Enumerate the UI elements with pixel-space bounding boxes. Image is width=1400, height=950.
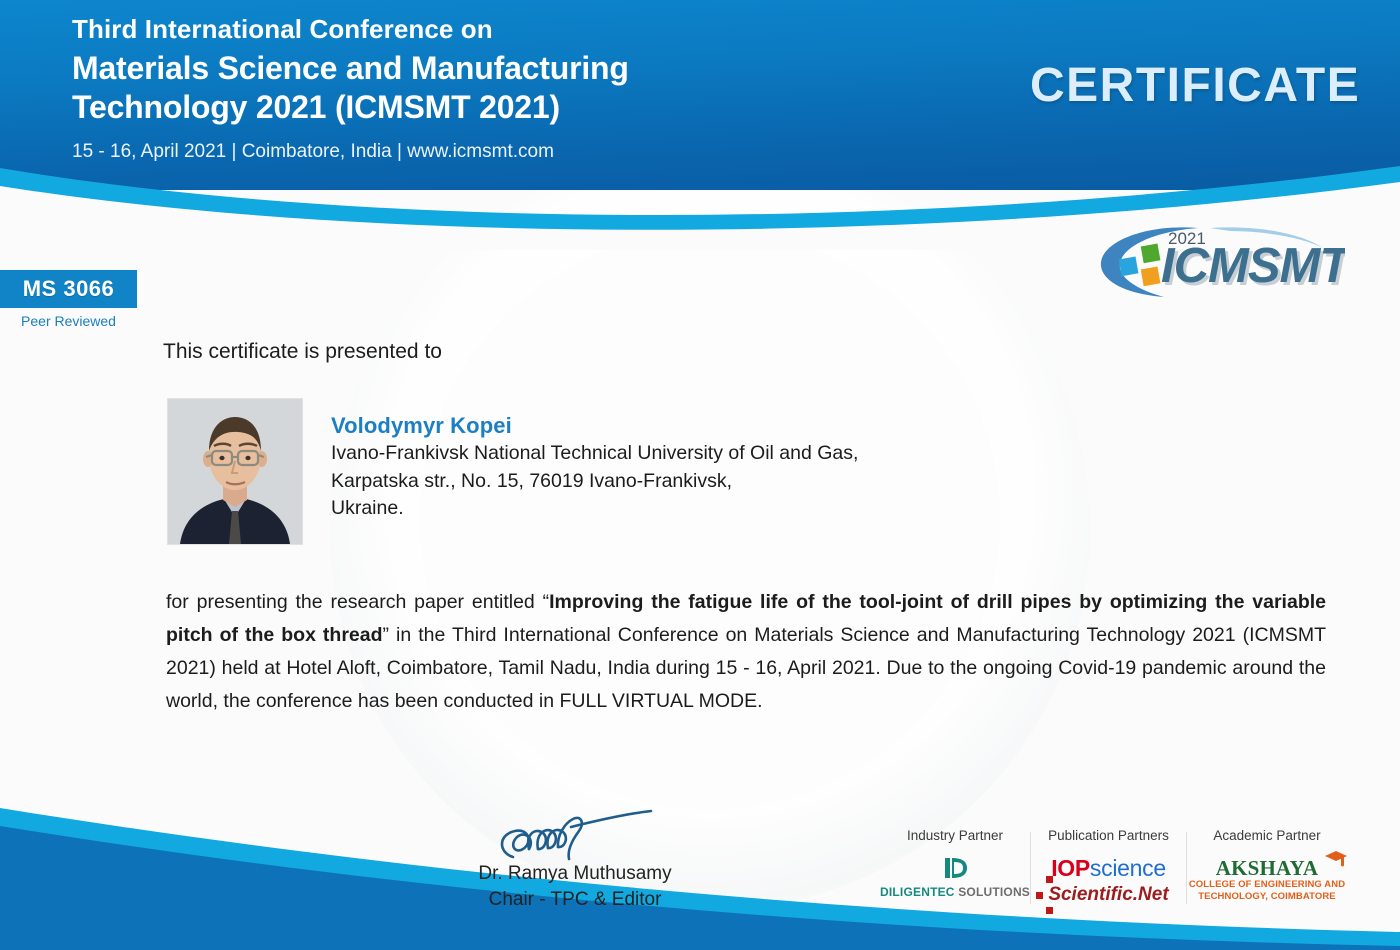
industry-partner-heading: Industry Partner	[880, 828, 1030, 843]
recipient-details: Volodymyr Kopei Ivano-Frankivsk National…	[331, 412, 1231, 523]
recipient-photo	[167, 398, 303, 545]
icmsmt-logo-wordmark: ICMSMT	[1161, 239, 1345, 293]
header-banner: Third International Conference on Materi…	[0, 0, 1400, 250]
iop-blue-text: science	[1090, 855, 1166, 881]
citation-paragraph: for presenting the research paper entitl…	[166, 586, 1326, 718]
paper-id-badge-group: MS 3066 Peer Reviewed	[0, 270, 137, 329]
conference-title-line-2: Technology 2021 (ICMSMT 2021)	[72, 88, 852, 127]
diligentec-suffix: SOLUTIONS	[955, 885, 1030, 899]
akshaya-sub-line-1: COLLEGE OF ENGINEERING AND	[1189, 879, 1345, 891]
akshaya-logo: AKSHAYA COLLEGE OF ENGINEERING AND TECHN…	[1189, 857, 1345, 903]
conference-prefix: Third International Conference on	[72, 14, 852, 44]
icmsmt-logo-svg: 2021 ICMSMT ICMSMT	[1090, 218, 1345, 304]
scinet-text: Scientific.Net	[1048, 884, 1168, 905]
icmsmt-logo: 2021 ICMSMT ICMSMT	[1090, 218, 1345, 304]
signature-mark	[475, 805, 675, 867]
presented-to-label: This certificate is presented to	[163, 340, 442, 364]
certificate-page: Third International Conference on Materi…	[0, 0, 1400, 950]
conference-meta: 15 - 16, April 2021 | Coimbatore, India …	[72, 140, 852, 164]
certificate-heading: CERTIFICATE	[1030, 58, 1360, 113]
diligentec-wordmark: DILIGENTEC SOLUTIONS	[880, 885, 1030, 899]
diligentec-logo-icon	[940, 855, 970, 881]
recipient-photo-svg	[168, 399, 302, 544]
peer-reviewed-label: Peer Reviewed	[0, 313, 137, 329]
signatory-role: Chair - TPC & Editor	[430, 887, 720, 913]
akshaya-name: AKSHAYA	[1189, 857, 1345, 879]
recipient-affiliation-line-3: Ukraine.	[331, 495, 1231, 523]
scientificnet-wordmark: Scientific.Net	[1048, 883, 1168, 907]
scinet-square-top	[1046, 876, 1053, 883]
publication-partner-heading: Publication Partners	[1031, 828, 1186, 843]
academic-partner-heading: Academic Partner	[1187, 828, 1347, 843]
akshaya-sub-line-2: TECHNOLOGY, COIMBATORE	[1189, 891, 1345, 903]
diligentec-name: DILIGENTEC	[880, 885, 955, 899]
scinet-square-bottom	[1046, 907, 1053, 914]
academic-partner-block: Academic Partner AKSHAYA COLLEGE OF ENGI…	[1187, 828, 1347, 904]
partners-section: Industry Partner DILIGENTEC SOLUTIONS Pu…	[880, 828, 1350, 928]
paper-id-badge: MS 3066	[0, 270, 137, 308]
recipient-name: Volodymyr Kopei	[331, 412, 1231, 440]
citation-prefix: for presenting the research paper entitl…	[166, 591, 549, 613]
recipient-affiliation-line-1: Ivano-Frankivsk National Technical Unive…	[331, 440, 1231, 468]
industry-partner-block: Industry Partner DILIGENTEC SOLUTIONS	[880, 828, 1030, 899]
scinet-square-left	[1036, 892, 1043, 899]
iopscience-wordmark: IOPscience	[1031, 855, 1186, 881]
conference-title-line-1: Materials Science and Manufacturing	[72, 49, 852, 88]
signatory-name: Dr. Ramya Muthusamy	[430, 861, 720, 887]
graduation-cap-icon	[1323, 849, 1349, 869]
publication-partner-block: Publication Partners IOPscience Scientif…	[1031, 828, 1186, 907]
conference-title-block: Third International Conference on Materi…	[72, 14, 852, 164]
iop-red-text: IOP	[1051, 855, 1090, 881]
recipient-affiliation-line-2: Karpatska str., No. 15, 76019 Ivano-Fran…	[331, 468, 1231, 496]
signature-block: Dr. Ramya Muthusamy Chair - TPC & Editor	[430, 805, 720, 913]
